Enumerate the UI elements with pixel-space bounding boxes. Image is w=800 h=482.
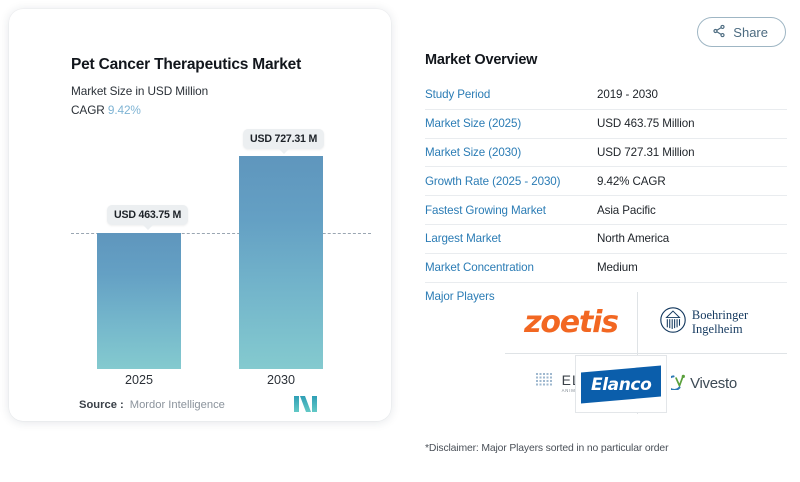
elias-dots-icon xyxy=(536,373,558,394)
chart-card: Pet Cancer Therapeutics Market Market Si… xyxy=(9,9,391,421)
vivesto-wordmark: Vivesto xyxy=(690,375,737,392)
row-value: Medium xyxy=(597,261,638,274)
elanco-wordmark: Elanco xyxy=(591,374,651,394)
table-row: Market Concentration Medium xyxy=(425,254,787,283)
elanco-banner: Elanco xyxy=(581,365,661,403)
row-value: 2019 - 2030 xyxy=(597,88,658,101)
player-logo-boehringer-ingelheim: Boehringer Ingelheim xyxy=(638,292,770,353)
row-key: Market Size (2025) xyxy=(425,117,597,130)
market-overview-table: Study Period 2019 - 2030 Market Size (20… xyxy=(425,81,787,311)
disclaimer-text: *Disclaimer: Major Players sorted in no … xyxy=(425,443,668,454)
row-key: Fastest Growing Market xyxy=(425,204,597,217)
table-row: Growth Rate (2025 - 2030) 9.42% CAGR xyxy=(425,167,787,196)
chart-subtitle: Market Size in USD Million xyxy=(71,84,208,98)
share-button[interactable]: Share xyxy=(697,17,786,47)
row-key: Growth Rate (2025 - 2030) xyxy=(425,175,597,188)
row-key: Largest Market xyxy=(425,232,597,245)
share-label: Share xyxy=(733,25,768,40)
bar-chart-plot: USD 463.75 M USD 727.31 M 2025 2030 xyxy=(71,129,371,369)
market-snapshot-page: Share Pet Cancer Therapeutics Market Mar… xyxy=(0,0,800,482)
row-value: North America xyxy=(597,232,669,245)
row-value: Asia Pacific xyxy=(597,204,656,217)
bar-2025 xyxy=(97,233,181,369)
row-key: Study Period xyxy=(425,88,597,101)
row-key: Market Size (2030) xyxy=(425,146,597,159)
table-row: Largest Market North America xyxy=(425,225,787,254)
cagr-value: 9.42% xyxy=(108,103,141,117)
row-value: USD 463.75 Million xyxy=(597,117,694,130)
chart-title: Pet Cancer Therapeutics Market xyxy=(71,56,301,74)
boehringer-line2: Ingelheim xyxy=(692,323,748,337)
source-row: Source : Mordor Intelligence xyxy=(79,399,379,411)
x-axis-label-2030: 2030 xyxy=(239,373,323,387)
boehringer-line1: Boehringer xyxy=(692,309,748,323)
row-value: 9.42% CAGR xyxy=(597,175,666,188)
bar-label-2030: USD 727.31 M xyxy=(243,129,324,149)
bar-2030 xyxy=(239,156,323,369)
market-overview-title: Market Overview xyxy=(425,52,537,68)
cagr-line: CAGR 9.42% xyxy=(71,103,141,117)
bar-label-2025: USD 463.75 M xyxy=(107,205,188,225)
boehringer-ingelheim-icon xyxy=(660,307,686,338)
cagr-label: CAGR xyxy=(71,103,105,117)
row-key: Market Concentration xyxy=(425,261,597,274)
share-icon xyxy=(712,24,726,41)
table-row: Market Size (2025) USD 463.75 Million xyxy=(425,110,787,139)
row-value: USD 727.31 Million xyxy=(597,146,694,159)
table-row: Market Size (2030) USD 727.31 Million xyxy=(425,139,787,168)
mordor-intelligence-logo xyxy=(294,394,318,419)
table-row: Study Period 2019 - 2030 xyxy=(425,81,787,110)
zoetis-wordmark: zoetis xyxy=(524,305,618,340)
x-axis-label-2025: 2025 xyxy=(97,373,181,387)
player-logo-zoetis: zoetis xyxy=(505,292,637,353)
vivesto-mark-icon xyxy=(671,373,688,395)
table-row: Fastest Growing Market Asia Pacific xyxy=(425,196,787,225)
player-logo-elanco: Elanco xyxy=(575,355,667,413)
source-label: Source : xyxy=(79,399,124,411)
source-value: Mordor Intelligence xyxy=(130,399,225,411)
